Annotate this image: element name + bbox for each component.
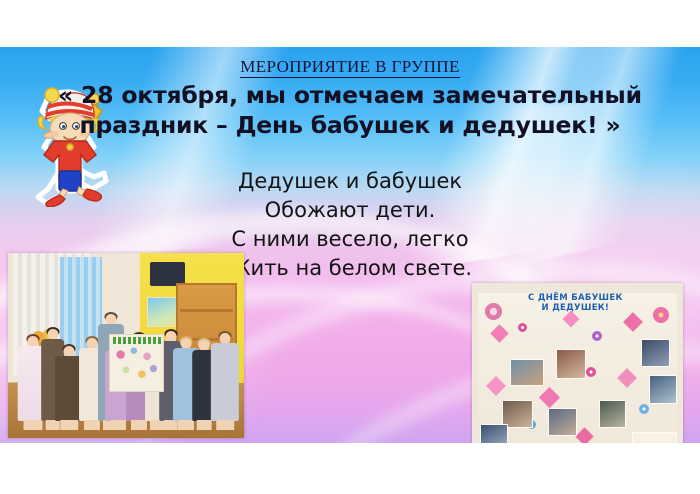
photo-wall-poster: С ДНЁМ БАБУШЕК И ДЕДУШЕК! <box>472 283 683 443</box>
event-label: МЕРОПРИЯТИЕ В ГРУППЕ <box>0 57 700 77</box>
children-held-poster <box>109 334 163 391</box>
poster-illustration <box>632 432 676 443</box>
slide-canvas: МЕРОПРИЯТИЕ В ГРУППЕ « 28 октября, мы от… <box>0 47 700 443</box>
flower-decoration <box>485 303 502 320</box>
flower-decoration <box>639 404 649 414</box>
poster-photo <box>556 349 586 379</box>
poster-title-line-1: С ДНЁМ БАБУШЕК <box>502 293 650 303</box>
event-label-text: МЕРОПРИЯТИЕ В ГРУППЕ <box>240 57 460 78</box>
poster-photo <box>548 408 578 436</box>
headline: « 28 октября, мы отмечаем замечательный … <box>20 80 680 140</box>
poster-photo <box>510 359 544 385</box>
poster-photo <box>641 339 671 367</box>
photo-children-group <box>8 253 244 438</box>
poster-photo <box>599 400 626 428</box>
poster-photo <box>649 375 676 403</box>
headline-line-1: « 28 октября, мы отмечаем замечательный <box>20 80 680 110</box>
poster-background: С ДНЁМ БАБУШЕК И ДЕДУШЕК! <box>472 283 683 443</box>
poem-line-1: Дедушек и бабушек <box>30 167 670 196</box>
headline-line-2: праздник – День бабушек и дедушек! » <box>20 110 680 140</box>
child <box>211 333 239 422</box>
slide-page: МЕРОПРИЯТИЕ В ГРУППЕ « 28 октября, мы от… <box>0 0 700 494</box>
room-background <box>8 253 244 438</box>
poem-line-2: Обожают дети. <box>30 196 670 225</box>
poster-photo <box>480 424 507 443</box>
poem-line-3: С ними весело, легко <box>30 225 670 254</box>
